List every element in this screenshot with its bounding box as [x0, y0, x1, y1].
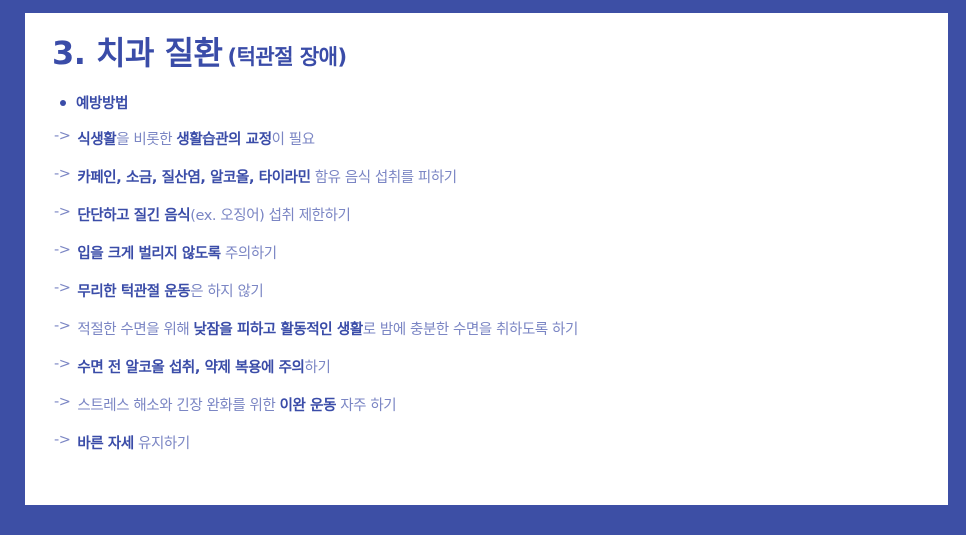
list-item: ->스트레스 해소와 긴장 완화를 위한 이완 운동 자주 하기	[54, 394, 948, 432]
arrow-marker-icon: ->	[54, 432, 70, 448]
frame-bottom-bar	[0, 505, 966, 535]
plain-text: 로 밤에 충분한 수면을 취하도록 하기	[363, 322, 578, 338]
arrow-marker-icon: ->	[54, 318, 70, 334]
arrow-marker-icon: ->	[54, 356, 70, 372]
emphasis-text: 식생활	[77, 132, 116, 148]
list-item: ->카페인, 소금, 질산염, 알코올, 타이라민 함유 음식 섭취를 피하기	[54, 166, 948, 204]
list-item: ->바른 자세 유지하기	[54, 432, 948, 470]
prevention-list: ->식생활을 비롯한 생활습관의 교정이 필요->카페인, 소금, 질산염, 알…	[52, 128, 948, 470]
list-item-text: 수면 전 알코올 섭취, 약제 복용에 주의하기	[77, 356, 330, 377]
slide-root: 3. 치과 질환(턱관절 장애) 예방방법 ->식생활을 비롯한 생활습관의 교…	[0, 0, 966, 543]
plain-text: 은 하지 않기	[190, 284, 263, 300]
arrow-marker-icon: ->	[54, 166, 70, 182]
arrow-marker-icon: ->	[54, 242, 70, 258]
plain-text: 하기	[305, 360, 331, 376]
plain-text: (ex. 오징어) 섭취 제한하기	[190, 208, 350, 224]
list-item-text: 카페인, 소금, 질산염, 알코올, 타이라민 함유 음식 섭취를 피하기	[77, 166, 456, 187]
emphasis-text: 이완 운동	[280, 398, 336, 414]
emphasis-text: 카페인, 소금, 질산염, 알코올, 타이라민	[77, 170, 310, 186]
page-title: 3. 치과 질환(턱관절 장애)	[52, 36, 948, 71]
page-title-subtitle: (턱관절 장애)	[222, 45, 346, 69]
plain-text: 적절한 수면을 위해	[77, 322, 193, 338]
arrow-marker-icon: ->	[54, 204, 70, 220]
frame-right-bar	[948, 0, 966, 535]
list-item-text: 입을 크게 벌리지 않도록 주의하기	[77, 242, 276, 263]
emphasis-text: 수면 전 알코올 섭취, 약제 복용에 주의	[77, 360, 304, 376]
emphasis-text: 바른 자세	[77, 436, 133, 452]
list-item-text: 바른 자세 유지하기	[77, 432, 189, 453]
plain-text: 함유 음식 섭취를 피하기	[311, 170, 457, 186]
list-item-text: 스트레스 해소와 긴장 완화를 위한 이완 운동 자주 하기	[77, 394, 396, 415]
frame-left-bar	[0, 0, 25, 535]
plain-text: 자주 하기	[336, 398, 396, 414]
page-title-main: 3. 치과 질환	[52, 34, 222, 72]
plain-text: 스트레스 해소와 긴장 완화를 위한	[77, 398, 279, 414]
bullet-dot-icon	[60, 100, 66, 106]
list-item-text: 단단하고 질긴 음식(ex. 오징어) 섭취 제한하기	[77, 204, 350, 225]
plain-text: 이 필요	[272, 132, 315, 148]
list-item: ->단단하고 질긴 음식(ex. 오징어) 섭취 제한하기	[54, 204, 948, 242]
list-item: ->무리한 턱관절 운동은 하지 않기	[54, 280, 948, 318]
plain-text: 을 비롯한	[116, 132, 176, 148]
plain-text: 주의하기	[221, 246, 277, 262]
section-heading: 예방방법	[52, 92, 948, 113]
arrow-marker-icon: ->	[54, 394, 70, 410]
list-item: ->수면 전 알코올 섭취, 약제 복용에 주의하기	[54, 356, 948, 394]
frame-top-bar	[0, 0, 966, 13]
list-item-text: 무리한 턱관절 운동은 하지 않기	[77, 280, 263, 301]
list-item-text: 식생활을 비롯한 생활습관의 교정이 필요	[77, 128, 314, 149]
arrow-marker-icon: ->	[54, 128, 70, 144]
list-item-text: 적절한 수면을 위해 낮잠을 피하고 활동적인 생활로 밤에 충분한 수면을 취…	[77, 318, 578, 339]
emphasis-text: 낮잠을 피하고 활동적인 생활	[194, 322, 363, 338]
section-heading-label: 예방방법	[76, 92, 128, 113]
plain-text: 유지하기	[134, 436, 190, 452]
arrow-marker-icon: ->	[54, 280, 70, 296]
emphasis-text: 입을 크게 벌리지 않도록	[77, 246, 220, 262]
list-item: ->입을 크게 벌리지 않도록 주의하기	[54, 242, 948, 280]
list-item: ->식생활을 비롯한 생활습관의 교정이 필요	[54, 128, 948, 166]
list-item: ->적절한 수면을 위해 낮잠을 피하고 활동적인 생활로 밤에 충분한 수면을…	[54, 318, 948, 356]
emphasis-text: 생활습관의 교정	[176, 132, 271, 148]
emphasis-text: 무리한 턱관절 운동	[77, 284, 190, 300]
slide-content: 3. 치과 질환(턱관절 장애) 예방방법 ->식생활을 비롯한 생활습관의 교…	[25, 13, 948, 505]
emphasis-text: 단단하고 질긴 음식	[77, 208, 190, 224]
